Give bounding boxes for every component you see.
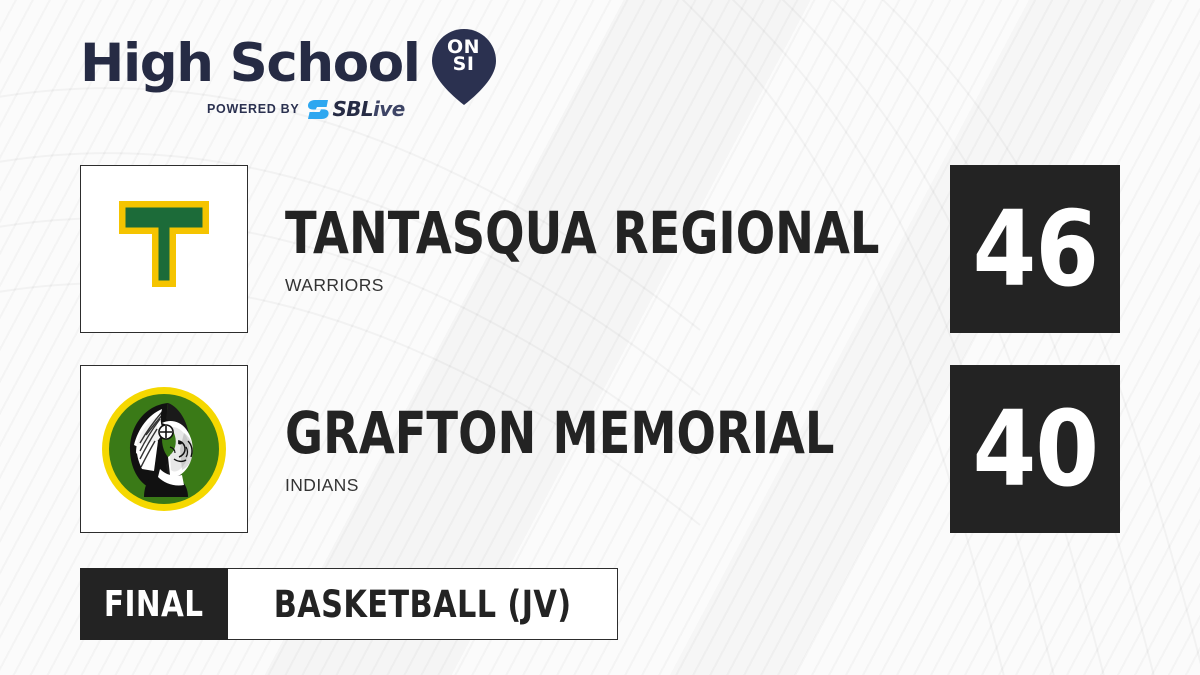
tantasqua-regional-logo (94, 179, 234, 319)
sblive-s-mark-icon (308, 100, 330, 119)
sblive-ive: ive (373, 97, 405, 121)
sport-label: BASKETBALL (JV) (274, 583, 572, 626)
scorecard-graphic: High School ON SI POWERED BY SBLive (0, 0, 1200, 675)
sblive-wordmark: SBLive (332, 99, 404, 119)
grafton-memorial-logo (100, 385, 228, 513)
team-mascot: WARRIORS (285, 275, 1028, 296)
game-status-badge: FINAL (80, 568, 228, 640)
team-info: GRAFTON MEMORIAL INDIANS (285, 365, 972, 533)
sport-label-box: BASKETBALL (JV) (228, 568, 618, 640)
team-info: TANTASQUA REGIONAL WARRIORS (285, 165, 1028, 333)
team-row: GRAFTON MEMORIAL INDIANS 40 (0, 365, 1200, 533)
team-score-box: 46 (950, 165, 1120, 333)
team-logo-box (80, 165, 248, 333)
team-name: GRAFTON MEMORIAL (285, 403, 834, 463)
brand-logo-row: High School ON SI (80, 32, 510, 96)
team-score: 46 (972, 197, 1098, 301)
team-row: TANTASQUA REGIONAL WARRIORS 46 (0, 165, 1200, 333)
brand-logo: High School ON SI POWERED BY SBLive (80, 32, 510, 132)
team-score-box: 40 (950, 365, 1120, 533)
team-mascot: INDIANS (285, 475, 972, 496)
powered-by-label: POWERED BY (207, 102, 299, 116)
status-bar: FINAL BASKETBALL (JV) (80, 568, 618, 640)
game-status-label: FINAL (104, 584, 204, 625)
on-si-pin-icon: ON SI (431, 28, 497, 106)
team-name: TANTASQUA REGIONAL (285, 203, 879, 263)
team-logo-box (80, 365, 248, 533)
brand-title: High School (80, 34, 420, 94)
pin-line-si: SI (431, 56, 497, 73)
on-si-pin-text: ON SI (431, 39, 497, 73)
sblive-sbl: SBL (332, 97, 373, 121)
team-score: 40 (972, 397, 1098, 501)
